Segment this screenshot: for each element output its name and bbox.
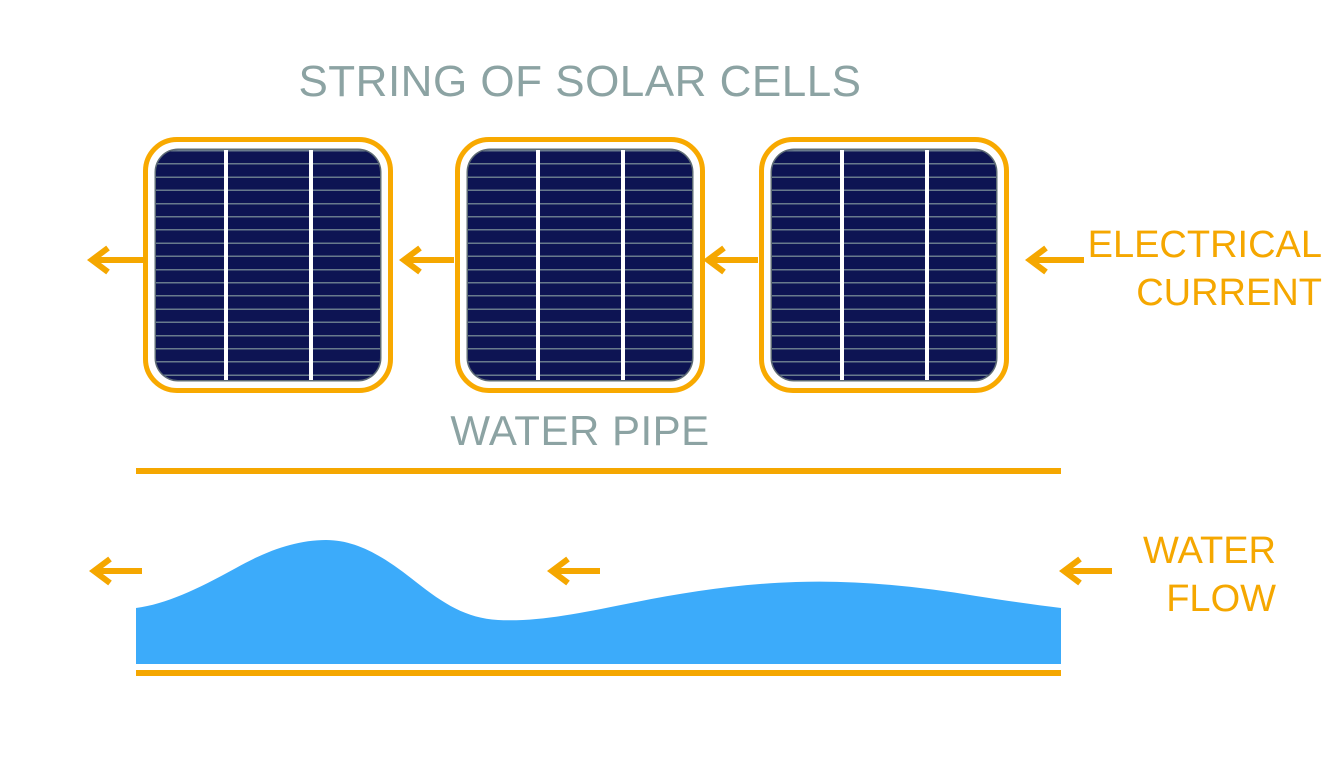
solar-cell-busbar-right (925, 150, 929, 380)
solar-cell-finger-lines (468, 150, 692, 380)
current-arrow-right-icon (1024, 245, 1086, 275)
solar-cell-busbar-left (536, 150, 540, 380)
water-body (136, 520, 1061, 664)
water-flow-label: WATER FLOW (1143, 528, 1276, 624)
electrical-current-label-line2: CURRENT (1088, 270, 1322, 318)
water-arrow-left-icon (88, 556, 146, 586)
water-arrow-right-icon (1058, 556, 1116, 586)
current-arrow-cell2-to-cell1-icon (398, 245, 456, 275)
solar-cell-finger-lines (156, 150, 380, 380)
pipe-wall-bottom (136, 670, 1061, 676)
pipe-wall-top (136, 468, 1061, 474)
electrical-current-label: ELECTRICAL CURRENT (1088, 222, 1322, 318)
solar-cell-busbar-left (840, 150, 844, 380)
water-flow-label-line1: WATER (1143, 528, 1276, 576)
solar-cell-body (156, 150, 380, 380)
solar-cell-finger-lines (772, 150, 996, 380)
electrical-current-label-line1: ELECTRICAL (1088, 222, 1322, 270)
solar-cell-busbar-right (621, 150, 625, 380)
water-flow-label-line2: FLOW (1143, 576, 1276, 624)
solar-cell-busbar-left (224, 150, 228, 380)
water-arrow-middle-icon (546, 556, 604, 586)
page-title-solar-string: STRING OF SOLAR CELLS (0, 60, 1160, 104)
solar-cell-body (772, 150, 996, 380)
solar-cell-body (468, 150, 692, 380)
current-arrow-left-icon (86, 245, 148, 275)
current-arrow-cell3-to-cell2-icon (702, 245, 760, 275)
solar-cell-1 (143, 137, 393, 393)
solar-cell-busbar-right (309, 150, 313, 380)
solar-cell-3 (759, 137, 1009, 393)
solar-cell-2 (455, 137, 705, 393)
diagram-canvas: STRING OF SOLAR CELLS WATER PIPE (0, 0, 1338, 769)
page-title-water-pipe: WATER PIPE (0, 410, 1160, 452)
